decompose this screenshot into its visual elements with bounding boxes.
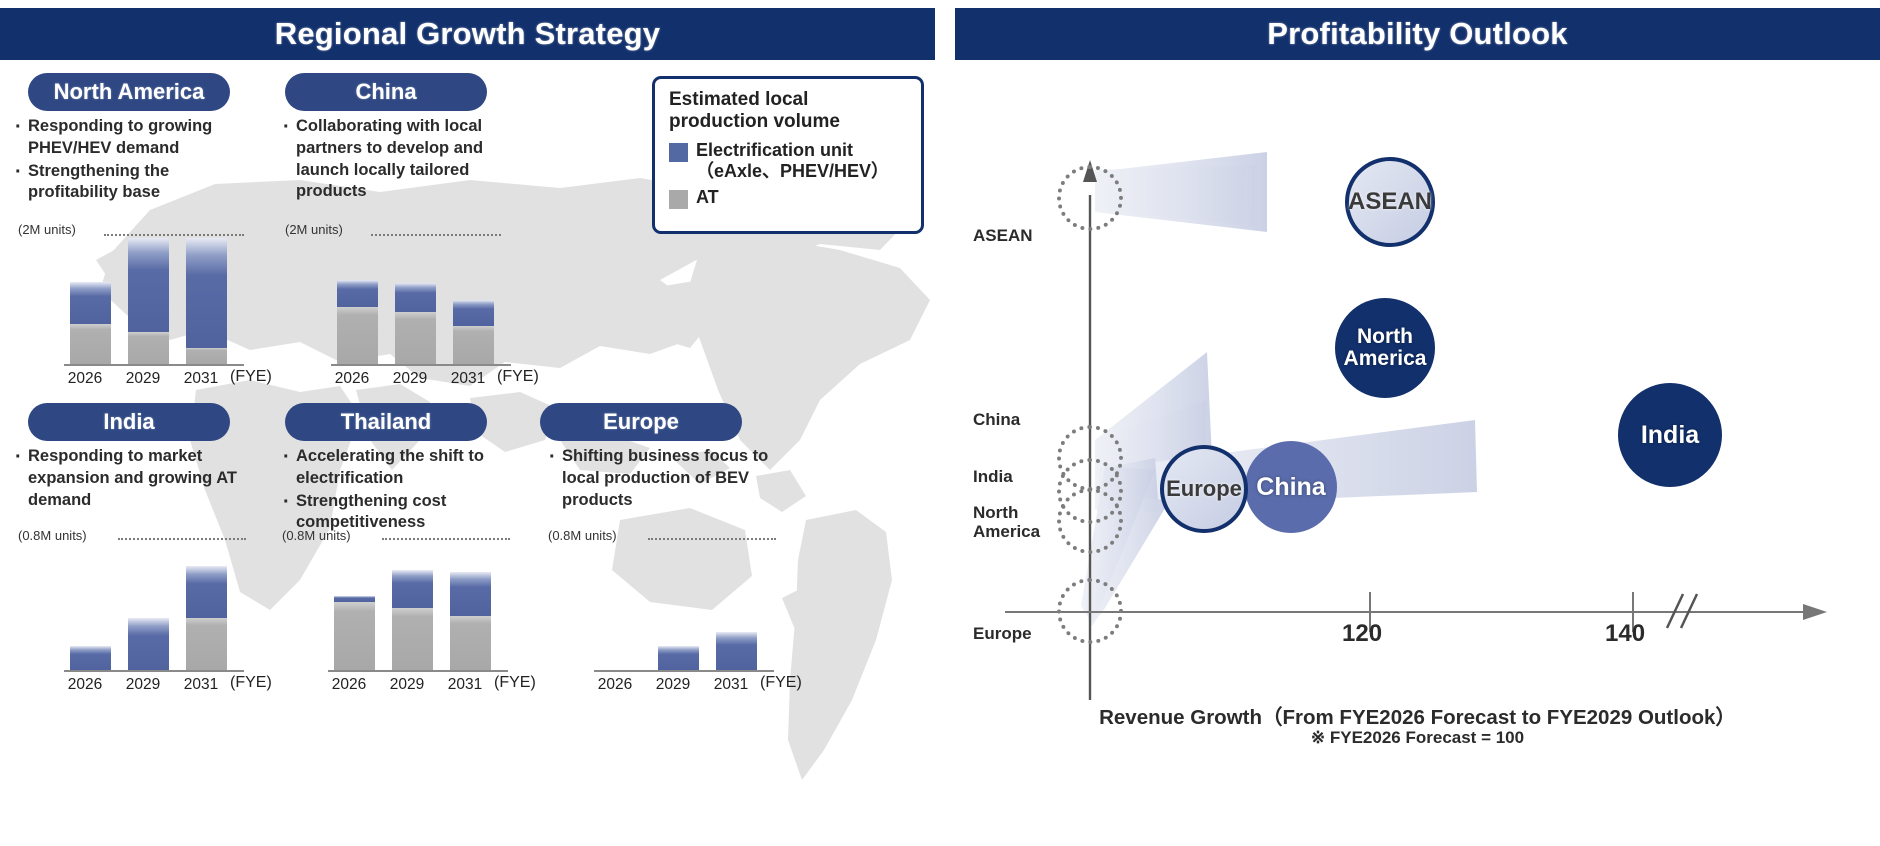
left-panel-header: Regional Growth Strategy — [0, 8, 935, 60]
bar-segment-at — [334, 602, 375, 670]
bar-segment-ev — [453, 300, 494, 326]
bar-segment-ev — [128, 238, 169, 332]
chart-baseline — [331, 364, 511, 366]
bar-segment-ev — [395, 283, 436, 312]
region-bullets-thailand: Accelerating the shift to electrificatio… — [282, 446, 514, 535]
x-axis-note: ※ FYE2026 Forecast = 100 — [955, 728, 1880, 748]
bar-segment-at — [392, 608, 433, 670]
chart-baseline — [594, 670, 774, 672]
bar-segment-ev — [334, 596, 375, 602]
bar-chart-india: (0.8M units) 2026 2029 2031 — [18, 528, 268, 708]
legend-title: Estimated local production volume — [669, 89, 909, 134]
bullet-item: Responding to market expansion and growi… — [14, 446, 242, 511]
bar-2026 — [70, 234, 111, 364]
regional-growth-panel: Regional Growth Strategy North America R… — [0, 0, 935, 846]
legend-row-ev: Electrification unit（eAxle、PHEV/HEV） — [669, 140, 909, 181]
bar-2029 — [392, 538, 433, 670]
bar-segment-at — [337, 307, 378, 364]
x-axis-title: Revenue Growth（From FYE2026 Forecast to … — [955, 700, 1880, 730]
legend-swatch-at-icon — [669, 190, 688, 209]
x-tick-2026: 2026 — [54, 676, 116, 694]
bar-segment-ev — [450, 572, 491, 616]
y-tick-label-china: China — [973, 410, 1020, 429]
profitability-outlook-panel: Profitability Outlook — [955, 0, 1880, 846]
bar-chart-china: (2M units) 2026 2029 2031 (F — [285, 222, 535, 392]
x-tick-2026: 2026 — [318, 676, 380, 694]
left-panel-title: Regional Growth Strategy — [275, 16, 660, 52]
region-pill-europe[interactable]: Europe — [540, 403, 742, 441]
bubble-asean[interactable]: ASEAN — [1345, 157, 1435, 247]
bar-2029 — [128, 234, 169, 364]
bubble-india[interactable]: India — [1618, 383, 1722, 487]
y-tick-label-europe: Europe — [973, 624, 1032, 643]
bar-segment-at — [450, 616, 491, 670]
bubble-label: Europe — [1166, 477, 1242, 500]
region-bullets-china: Collaborating with local partners to dev… — [282, 116, 510, 204]
region-pill-china[interactable]: China — [285, 73, 487, 111]
bar-segment-at — [395, 312, 436, 364]
y-tick-label-north-america: North America — [973, 503, 1059, 541]
x-tick-2031: 2031 — [434, 676, 496, 694]
x-tick-2029: 2029 — [112, 676, 174, 694]
bar-2031 — [450, 538, 491, 670]
region-bullets-india: Responding to market expansion and growi… — [14, 446, 242, 512]
bar-chart-north-america: (2M units) 2026 2029 2031 (F — [18, 222, 268, 392]
x-tick-2026: 2026 — [54, 370, 116, 388]
bubble-label: India — [1641, 422, 1699, 448]
x-axis-unit: (FYE) — [497, 368, 539, 386]
bar-2029 — [658, 538, 699, 670]
bar-segment-at — [453, 326, 494, 364]
forecast-circle-europe — [1057, 578, 1123, 644]
x-tick-2026: 2026 — [584, 676, 646, 694]
production-volume-legend: Estimated local production volume Electr… — [652, 76, 924, 234]
bar-2026 — [337, 234, 378, 364]
bar-segment-ev — [337, 280, 378, 307]
x-tick-2031: 2031 — [700, 676, 762, 694]
x-tick-2031: 2031 — [437, 370, 499, 388]
x-tick-2029: 2029 — [376, 676, 438, 694]
region-pill-label: Thailand — [341, 409, 431, 435]
x-tick-2029: 2029 — [379, 370, 441, 388]
bar-segment-at — [128, 332, 169, 364]
forecast-circle-north-america — [1057, 488, 1123, 554]
region-pill-label: India — [103, 409, 154, 435]
bar-segment-at — [70, 324, 111, 364]
chart-baseline — [64, 364, 244, 366]
x-tick-label-120: 120 — [1342, 620, 1382, 648]
region-bullets-north-america: Responding to growing PHEV/HEV demand St… — [14, 116, 239, 205]
slide-root: Regional Growth Strategy North America R… — [0, 0, 1880, 846]
bar-segment-ev — [186, 238, 227, 348]
bubble-label: NorthAmerica — [1344, 326, 1427, 370]
x-axis-unit: (FYE) — [494, 674, 536, 692]
chart-baseline — [328, 670, 508, 672]
x-axis-unit: (FYE) — [230, 674, 272, 692]
x-axis-arrow-icon — [1803, 604, 1827, 620]
bar-2026 — [70, 538, 111, 670]
bubble-label: China — [1256, 474, 1325, 500]
region-bullets-europe: Shifting business focus to local product… — [548, 446, 776, 512]
region-pill-india[interactable]: India — [28, 403, 230, 441]
bar-segment-ev — [70, 646, 111, 670]
legend-label-at: AT — [696, 187, 719, 208]
region-pill-label: China — [355, 79, 416, 105]
legend-label-ev: Electrification unit（eAxle、PHEV/HEV） — [696, 140, 909, 181]
x-axis-unit: (FYE) — [230, 368, 272, 386]
region-pill-label: North America — [54, 79, 205, 105]
x-tick-2031: 2031 — [170, 676, 232, 694]
bar-segment-ev — [128, 618, 169, 670]
bar-segment-ev — [392, 570, 433, 608]
bar-chart-europe: (0.8M units) 2026 2029 2031 — [548, 528, 798, 708]
x-tick-2026: 2026 — [321, 370, 383, 388]
bar-2029 — [395, 234, 436, 364]
legend-row-at: AT — [669, 187, 909, 209]
y-tick-label-india: India — [973, 467, 1013, 486]
bubble-north-america[interactable]: NorthAmerica — [1335, 298, 1435, 398]
y-tick-label-asean: ASEAN — [973, 226, 1033, 245]
bar-2029 — [128, 538, 169, 670]
bullet-item: Shifting business focus to local product… — [548, 446, 776, 511]
bullet-item: Accelerating the shift to electrificatio… — [282, 446, 514, 490]
bar-2031 — [453, 234, 494, 364]
bullet-item: Collaborating with local partners to dev… — [282, 116, 510, 203]
bubble-china[interactable]: China — [1245, 441, 1337, 533]
bubble-label: ASEAN — [1348, 189, 1432, 214]
region-pill-north-america[interactable]: North America — [28, 73, 230, 111]
bullet-item: Strengthening the profitability base — [14, 161, 239, 205]
region-pill-label: Europe — [603, 409, 679, 435]
bubble-europe[interactable]: Europe — [1160, 445, 1248, 533]
forecast-circle-asean — [1057, 165, 1123, 231]
bar-segment-ev — [186, 566, 227, 618]
bar-segment-at — [186, 618, 227, 670]
bar-2031 — [716, 538, 757, 670]
x-tick-2029: 2029 — [112, 370, 174, 388]
bullet-item: Responding to growing PHEV/HEV demand — [14, 116, 239, 160]
x-tick-label-140: 140 — [1605, 620, 1645, 648]
bar-segment-ev — [70, 282, 111, 324]
bar-2031 — [186, 234, 227, 364]
bar-segment-ev — [658, 646, 699, 670]
bar-2026 — [334, 538, 375, 670]
x-axis-unit: (FYE) — [760, 674, 802, 692]
bar-chart-thailand: (0.8M units) 2026 2029 2031 — [282, 528, 532, 708]
bar-segment-ev — [716, 632, 757, 670]
bar-2031 — [186, 538, 227, 670]
region-pill-thailand[interactable]: Thailand — [285, 403, 487, 441]
x-tick-2029: 2029 — [642, 676, 704, 694]
chart-baseline — [64, 670, 244, 672]
x-tick-2031: 2031 — [170, 370, 232, 388]
legend-swatch-ev-icon — [669, 143, 688, 162]
bar-2026 — [600, 538, 641, 670]
bar-segment-at — [186, 348, 227, 364]
